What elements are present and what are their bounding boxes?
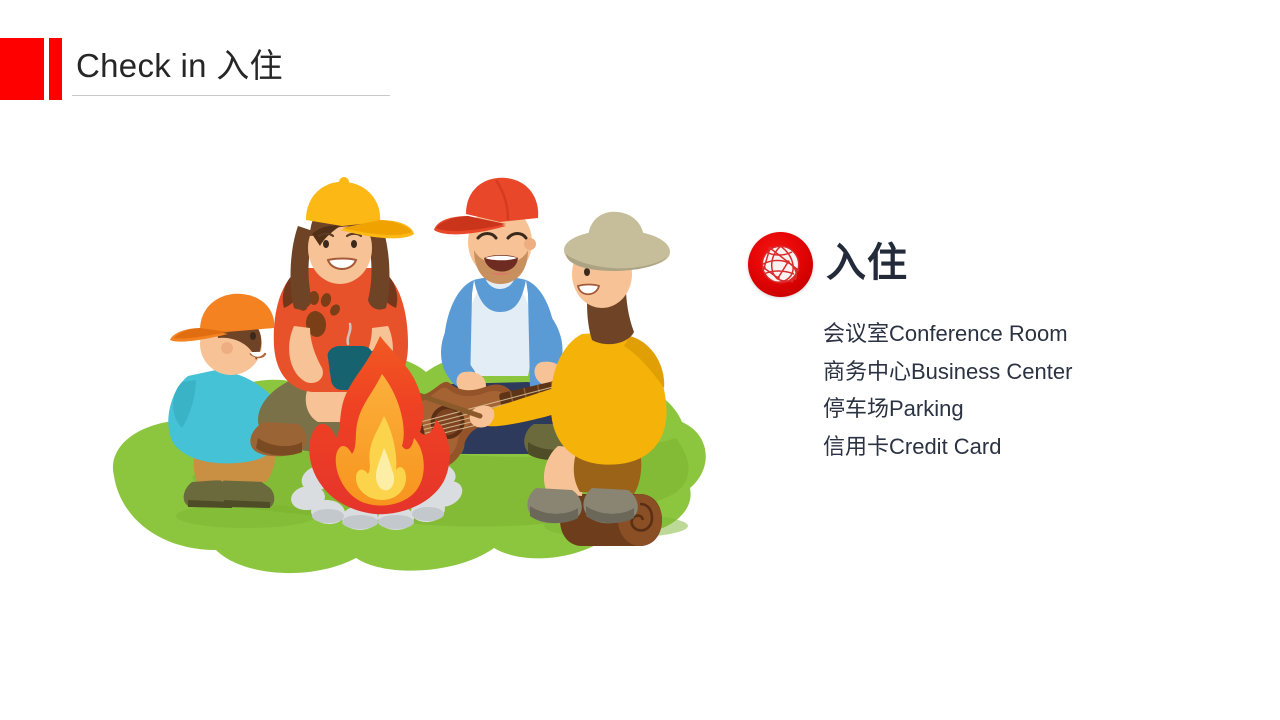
slide-canvas: Check in 入住 — [0, 0, 1280, 720]
khaki-sun-hat — [564, 212, 670, 271]
panel-heading-row: 入住 — [748, 230, 1168, 302]
panel-title: 入住 — [826, 234, 908, 292]
list-item: 信用卡Credit Card — [823, 428, 1072, 466]
check-in-info-panel: 入住 会议室Conference Room 商务中心Business Cente… — [748, 230, 1168, 302]
list-item: 会议室Conference Room — [823, 315, 1072, 353]
title-accent-block-wide — [0, 38, 44, 100]
page-title: Check in 入住 — [76, 36, 283, 96]
slide-title-bar: Check in 入住 — [0, 38, 400, 100]
check-in-item-list: 会议室Conference Room 商务中心Business Center 停… — [823, 315, 1072, 465]
title-accent-block-narrow — [49, 38, 62, 100]
red-globe-web-icon — [748, 232, 813, 297]
list-item: 商务中心Business Center — [823, 353, 1072, 391]
list-item: 停车场Parking — [823, 390, 1072, 428]
title-underline — [72, 95, 390, 96]
campfire-illustration — [96, 176, 716, 576]
